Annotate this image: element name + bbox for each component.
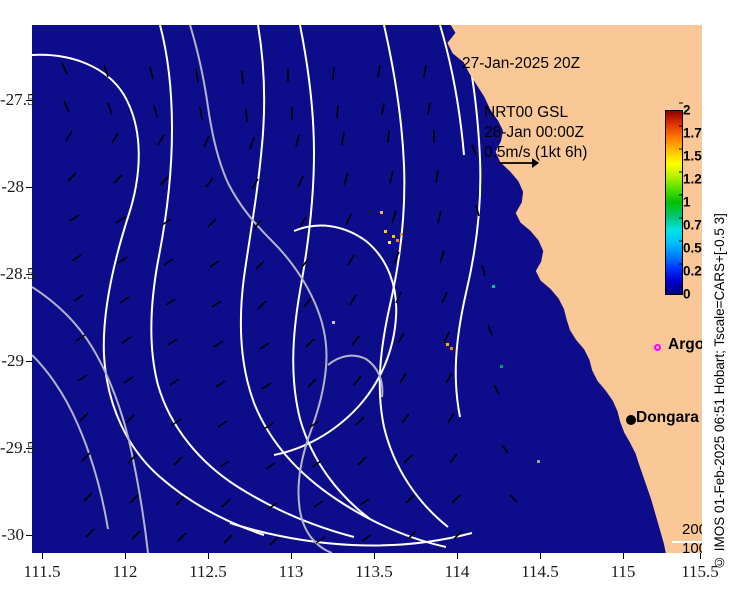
dongara-town-marker[interactable] — [626, 415, 636, 425]
y-axis-label: -28 — [0, 177, 24, 197]
sst-age-pixel — [446, 343, 449, 346]
x-axis-label: 114.5 — [521, 562, 559, 582]
x-axis-tick — [291, 553, 292, 559]
colorbar-tick: 0.75 — [683, 218, 702, 233]
depth-key-200m: 200m — [682, 520, 702, 539]
x-axis-label: 115 — [611, 562, 636, 582]
sst-age-pixel — [384, 230, 387, 233]
colorbar-tick: 1.25 — [683, 172, 702, 187]
x-axis-tick — [125, 553, 126, 559]
sst-age-pixel — [332, 321, 335, 324]
x-axis-tick — [540, 553, 541, 559]
dongara-label: Dongara — [636, 409, 699, 427]
colorbar-tick: 0.25 — [683, 264, 702, 279]
colorbar-tick: 2 — [683, 103, 691, 118]
x-axis-label: 112 — [113, 562, 138, 582]
argo-label: Argo — [668, 336, 702, 354]
y-axis-label: -29.5 — [0, 438, 24, 458]
x-axis-tick — [700, 553, 701, 559]
argo-float-marker[interactable] — [654, 344, 661, 351]
y-axis-tick — [26, 187, 32, 188]
sst-age-pixel — [537, 460, 540, 463]
depth-key: 200m 1000m — [682, 520, 702, 553]
colorbar-tick: 0.5 — [683, 241, 702, 256]
sst-age-pixel — [450, 347, 453, 350]
colorbar-tick: 1 — [683, 195, 691, 210]
x-axis-label: 112.5 — [189, 562, 227, 582]
y-axis-label: -27.5 — [0, 90, 24, 110]
x-axis-tick — [457, 553, 458, 559]
forecast-title-date: 27-Jan-2025 20Z — [462, 55, 580, 73]
model-valid-time: 28-Jan 00:00Z — [484, 123, 587, 143]
model-info-block: NRT00 GSL 28-Jan 00:00Z 0.5m/s (1kt 6h) — [484, 103, 587, 163]
sst-age-pixel — [380, 211, 383, 214]
x-axis-tick — [208, 553, 209, 559]
reference-arrow-icon — [496, 156, 540, 170]
colorbar-tick: 1.5 — [683, 149, 702, 164]
x-axis-label: 113 — [279, 562, 304, 582]
x-axis-tick — [623, 553, 624, 559]
colorbar-tick: 1.75 — [683, 126, 702, 141]
colorbar-tick: 0 — [683, 287, 691, 302]
sst-age-pixel — [492, 285, 495, 288]
y-axis-label: -30 — [0, 525, 24, 545]
sst-age-pixel — [500, 365, 503, 368]
x-axis-label: 111.5 — [24, 562, 61, 582]
sst-age-pixel — [392, 235, 395, 238]
depth-key-1000m: 1000m — [682, 539, 702, 553]
x-axis-label: 113.5 — [355, 562, 393, 582]
model-name: NRT00 GSL — [484, 103, 587, 123]
sst-age-pixel — [396, 239, 399, 242]
credit-text: © IMOS 01-Feb-2025 06:51 Hobart; Tscale=… — [712, 150, 732, 570]
x-axis-tick — [374, 553, 375, 559]
sst-age-pixel — [388, 241, 391, 244]
y-axis-tick — [26, 535, 32, 536]
y-axis-tick — [26, 361, 32, 362]
x-axis-label: 114 — [445, 562, 470, 582]
colorbar-gradient — [665, 110, 683, 295]
map-plot-area: 27-Jan-2025 20Z NRT00 GSL 28-Jan 00:00Z … — [32, 25, 702, 553]
y-axis-label: -29 — [0, 351, 24, 371]
y-axis-label: -28.5 — [0, 264, 24, 284]
colorbar: 2 1.75 1.5 1.25 1 0.75 0.5 0.25 0 — [665, 110, 683, 295]
x-axis-tick — [42, 553, 43, 559]
sst-age-pixel — [400, 233, 403, 236]
